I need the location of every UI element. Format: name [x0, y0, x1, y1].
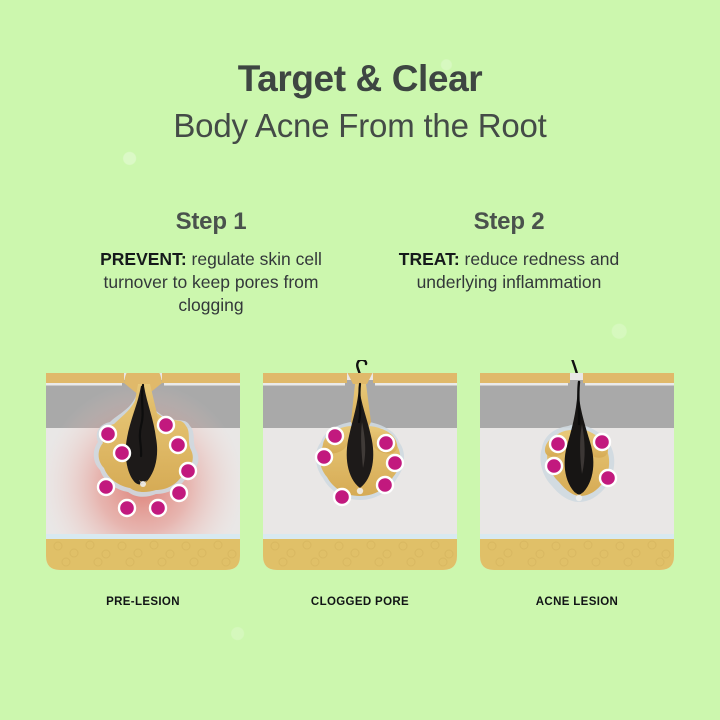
panel-caption-pre-lesion: PRE-LESION: [46, 596, 240, 608]
diagram-panel-pre-lesion: PRE-LESION: [46, 360, 240, 608]
panel-caption-acne-lesion: ACNE LESION: [480, 596, 674, 608]
skin-cross-section-3: [480, 360, 674, 572]
page-subtitle: Body Acne From the Root: [0, 105, 720, 148]
step-1-body: PREVENT: regulate skin cell turnover to …: [77, 248, 345, 317]
step-2-heading: Step 2: [375, 208, 643, 236]
skin-cross-section-2: [263, 360, 457, 572]
panel-caption-clogged-pore: CLOGGED PORE: [263, 596, 457, 608]
header-block: Target & Clear Body Acne From the Root: [0, 58, 720, 147]
skin-cross-section-1: [46, 360, 240, 572]
diagram-panels-row: PRE-LESION: [0, 360, 720, 608]
diagram-panel-clogged-pore: CLOGGED PORE: [263, 360, 457, 608]
diagram-panel-acne-lesion: ACNE LESION: [480, 360, 674, 608]
steps-row: Step 1 PREVENT: regulate skin cell turno…: [0, 208, 720, 317]
page-title: Target & Clear: [0, 58, 720, 101]
step-1-keyword: PREVENT:: [100, 249, 187, 269]
step-2-keyword: TREAT:: [399, 249, 460, 269]
infographic-canvas: Target & Clear Body Acne From the Root S…: [0, 0, 720, 720]
step-column-2: Step 2 TREAT: reduce redness and underly…: [369, 208, 649, 317]
step-1-heading: Step 1: [77, 208, 345, 236]
step-2-body: TREAT: reduce redness and underlying inf…: [375, 248, 643, 294]
step-column-1: Step 1 PREVENT: regulate skin cell turno…: [71, 208, 351, 317]
